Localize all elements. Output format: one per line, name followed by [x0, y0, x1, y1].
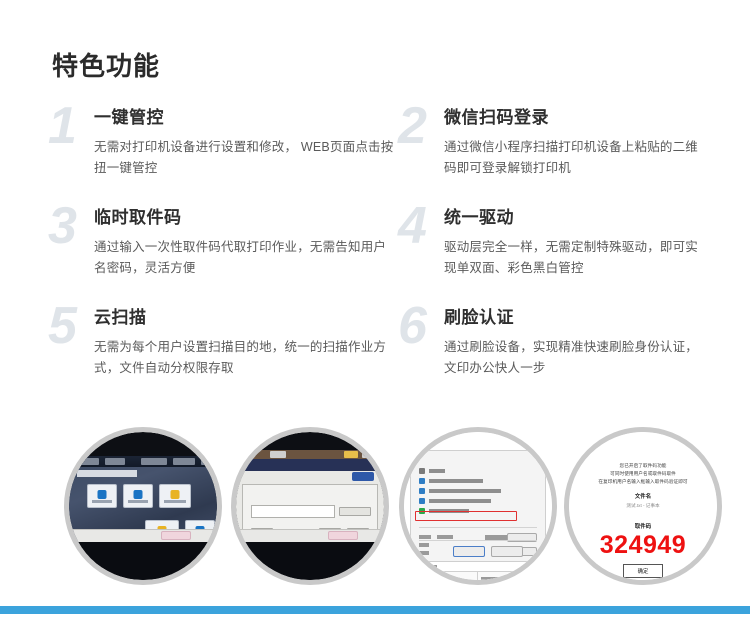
thumbnail-2-image: [236, 432, 384, 580]
printer-list-item[interactable]: [419, 487, 527, 495]
feature-item-4: 4 统一驱动 驱动层完全一样，无需定制特殊驱动，即可实现单双面、彩色黑白管控: [402, 208, 702, 308]
printer-name: [429, 499, 491, 503]
feature-description-1: 无需对打印机设备进行设置和修改， WEB页面点击按扭一键管控: [94, 137, 394, 178]
print-ok-button[interactable]: [453, 546, 485, 557]
pickup-notice-line-2: 可同时使用用户名或取件码取件: [610, 470, 676, 478]
feature-description-4: 驱动层完全一样，无需定制特殊驱动，即可实现单双面、彩色黑白管控: [444, 237, 702, 278]
feature-heading-3: 临时取件码: [94, 208, 402, 228]
copy-icon: [98, 490, 107, 499]
tile-label: [128, 500, 148, 503]
feature-item-5: 5 云扫描 无需为每个用户设置扫描目的地，统一的扫描作业方式，文件自动分权限存取: [52, 308, 402, 408]
panel-tab: [141, 458, 167, 465]
feature-number-5: 5: [48, 300, 75, 352]
bottom-accent-bar: [0, 606, 750, 614]
feature-description-6: 通过刷脸设备，实现精准快速刷脸身份认证，文印办公快人一步: [444, 337, 702, 378]
location-label: [419, 543, 429, 547]
divider: [419, 540, 537, 541]
printer-icon: [419, 468, 425, 474]
panel-app-tile: [87, 484, 117, 508]
panel-tab: [362, 451, 378, 458]
thumbnail-row: 您已开启了取件码功能 可同时使用用户名或取件码取件 在复印机用户名输入框输入取件…: [0, 427, 750, 592]
feature-item-2: 2 微信扫码登录 通过微信小程序扫描打印机设备上粘贴的二维码即可登录解锁打印机: [402, 108, 702, 208]
printer-list-item[interactable]: [419, 477, 527, 485]
feature-item-6: 6 刷脸认证 通过刷脸设备，实现精准快速刷脸身份认证，文印办公快人一步: [402, 308, 702, 408]
copies-spinner[interactable]: [517, 575, 537, 580]
feature-heading-5: 云扫描: [94, 308, 402, 328]
feature-heading-4: 统一驱动: [444, 208, 702, 228]
thumbnail-pickup-code-dialog[interactable]: 您已开启了取件码功能 可同时使用用户名或取件码取件 在复印机用户名输入框输入取件…: [564, 427, 722, 585]
panel-action-button: [328, 531, 358, 540]
dialog-titlebar: [243, 485, 377, 493]
panel-lower-bezel: [69, 542, 217, 580]
panel-navbar: [236, 459, 384, 471]
panel-tab: [201, 458, 217, 465]
panel-action-button: [161, 531, 191, 540]
pickup-code-dialog: 您已开启了取件码功能 可同时使用用户名或取件码取件 在复印机用户名输入框输入取件…: [569, 432, 717, 580]
copies-label: [481, 577, 503, 580]
feature-description-5: 无需为每个用户设置扫描目的地，统一的扫描作业方式，文件自动分权限存取: [94, 337, 394, 378]
thumbnail-4-image: 您已开启了取件码功能 可同时使用用户名或取件码取件 在复印机用户名输入框输入取件…: [569, 432, 717, 580]
pickup-code-label: 取件码: [635, 522, 651, 530]
divider: [419, 527, 537, 528]
panel-statusbar: [236, 529, 384, 542]
print-dialog-body: [410, 450, 546, 562]
panel-tab: [173, 458, 195, 465]
panel-statusbar: [69, 529, 217, 542]
thumbnail-1-image: [69, 432, 217, 580]
all-radio[interactable]: [422, 577, 438, 580]
confirm-button[interactable]: 确定: [623, 564, 664, 578]
feature-number-4: 4: [398, 200, 425, 252]
page-range-label: [419, 565, 437, 569]
selected-printer-highlight: [415, 511, 517, 521]
dialog-text-input[interactable]: [251, 505, 335, 518]
panel-bezel: [236, 432, 384, 580]
panel-app-tile: [159, 484, 191, 508]
scan-icon: [134, 490, 143, 499]
panel-nav-button: [352, 472, 374, 481]
feature-item-1: 1 一键管控 无需对打印机设备进行设置和修改， WEB页面点击按扭一键管控: [52, 108, 402, 208]
feature-heading-6: 刷脸认证: [444, 308, 702, 328]
feature-heading-1: 一键管控: [94, 108, 402, 128]
panel-app-tile: [123, 484, 153, 508]
feature-number-6: 6: [398, 300, 425, 352]
pickup-notice-line-3: 在复印机用户名输入框输入取件码验证即可: [598, 478, 687, 486]
feature-number-3: 3: [48, 200, 75, 252]
printer-icon: [419, 498, 425, 504]
panel-tab: [73, 458, 99, 465]
feature-heading-2: 微信扫码登录: [444, 108, 702, 128]
feature-number-2: 2: [398, 100, 425, 152]
feature-grid: 1 一键管控 无需对打印机设备进行设置和修改， WEB页面点击按扭一键管控 2 …: [52, 108, 702, 408]
file-name-label: 文件名: [635, 492, 651, 500]
printer-name: [429, 469, 445, 473]
thumbnail-printer-panel-dialog[interactable]: [231, 427, 389, 585]
status-value: [437, 535, 453, 539]
panel-tab: [105, 458, 125, 465]
feature-description-3: 通过输入一次性取件码代取打印作业，无需告知用户名密码，灵活方便: [94, 237, 394, 278]
panel-tab: [270, 451, 286, 458]
printer-icon: [419, 488, 425, 494]
page-title: 特色功能: [52, 52, 160, 82]
thumbnail-3-image: [404, 432, 552, 580]
feature-number-1: 1: [48, 100, 75, 152]
printer-list[interactable]: [419, 467, 527, 517]
printer-list-item[interactable]: [419, 497, 527, 505]
feature-page: 特色功能 1 一键管控 无需对打印机设备进行设置和修改， WEB页面点击按扭一键…: [0, 0, 750, 617]
print-cancel-button[interactable]: [491, 546, 523, 557]
comment-label: [419, 551, 429, 555]
panel-tab: [344, 451, 358, 458]
tile-label: [164, 500, 186, 503]
feature-item-3: 3 临时取件码 通过输入一次性取件码代取打印作业，无需告知用户名密码，灵活方便: [52, 208, 402, 308]
printer-name: [429, 489, 501, 493]
panel-bezel: [69, 432, 217, 580]
panel-lower-bezel: [236, 542, 384, 580]
status-label: [419, 535, 431, 539]
pickup-notice-line-1: 您已开启了取件码功能: [620, 462, 667, 470]
dialog-dropdown-button[interactable]: [339, 507, 371, 516]
print-dialog: [404, 432, 552, 580]
panel-title-bar: [77, 470, 137, 477]
feature-description-2: 通过微信小程序扫描打印机设备上粘贴的二维码即可登录解锁打印机: [444, 137, 702, 178]
thumbnail-windows-print-dialog[interactable]: [399, 427, 557, 585]
pickup-code-value: 324949: [600, 532, 686, 558]
printer-list-item[interactable]: [419, 467, 527, 475]
printer-icon: [419, 478, 425, 484]
printer-name: [429, 479, 483, 483]
tile-label: [92, 500, 112, 503]
file-name-value: 测试.txt - 记事本: [626, 503, 659, 509]
mail-icon: [171, 490, 180, 499]
thumbnail-printer-panel-home[interactable]: [64, 427, 222, 585]
